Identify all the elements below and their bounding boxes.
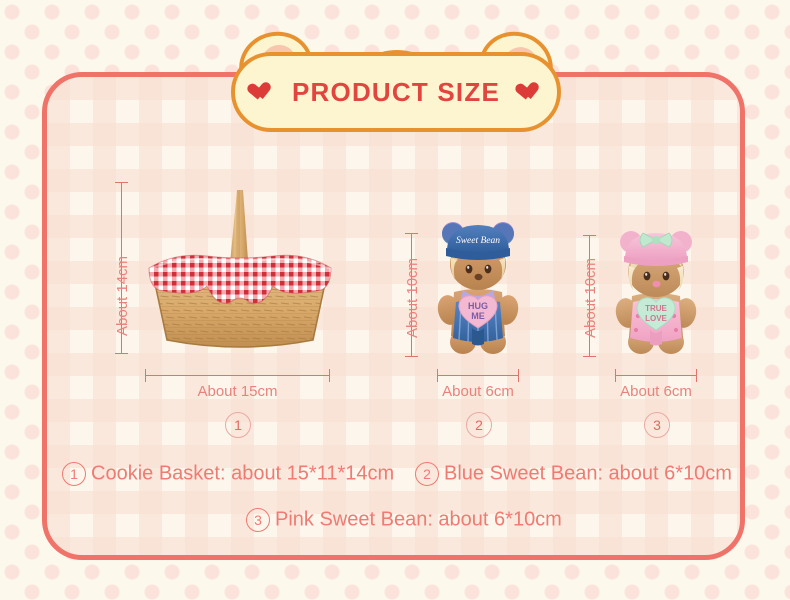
banner-body: PRODUCT SIZE [231,52,561,132]
caption-line-3: 3Pink Sweet Bean: about 6*10cm [246,508,562,532]
caption-text-1: Cookie Basket: about 15*11*14cm [91,463,394,485]
product-number-2: 2 [466,412,492,438]
dimension-label-basket-height: About 14cm [114,256,131,336]
page-title: PRODUCT SIZE [292,77,500,108]
caption-text-3: Pink Sweet Bean: about 6*10cm [275,509,562,531]
dimension-label-pink-bear-height: About 10cm [582,258,599,338]
dimension-line-basket-width [145,375,330,376]
caption-line-1: 1Cookie Basket: about 15*11*14cm [62,462,394,486]
dimension-label-blue-bear-width: About 6cm [430,383,526,400]
title-banner: PRODUCT SIZE [231,30,561,135]
caption-line-2: 2Blue Sweet Bean: about 6*10cm [415,462,732,486]
blue-bear-cap-text: Sweet Bean [456,236,500,246]
heart-icon-left [251,81,273,103]
caption-number-3: 3 [246,508,270,532]
blue-bear-heart-text-line2: ME [471,311,485,321]
dimension-line-pink-bear-width [615,375,697,376]
product-illustration-blue-bear: HUG ME Sweet Bean [432,216,524,356]
product-number-3: 3 [644,412,670,438]
blue-bear-heart-text-line1: HUG [468,301,488,311]
dimension-label-pink-bear-width: About 6cm [608,383,704,400]
product-illustration-basket [145,182,335,362]
pink-bear-heart-text-line2: LOVE [645,314,667,323]
dimension-line-blue-bear-width [437,375,519,376]
page-background: PRODUCT SIZE [0,0,790,600]
dimension-label-basket-width: About 15cm [145,383,330,400]
heart-icon-right [519,81,541,103]
product-number-1: 1 [225,412,251,438]
caption-number-2: 2 [415,462,439,486]
caption-text-2: Blue Sweet Bean: about 6*10cm [444,463,732,485]
caption-number-1: 1 [62,462,86,486]
pink-bear-heart-text-line1: TRUE [645,304,667,313]
product-illustration-pink-bear: TRUE LOVE [610,228,702,356]
dimension-label-blue-bear-height: About 10cm [404,258,421,338]
